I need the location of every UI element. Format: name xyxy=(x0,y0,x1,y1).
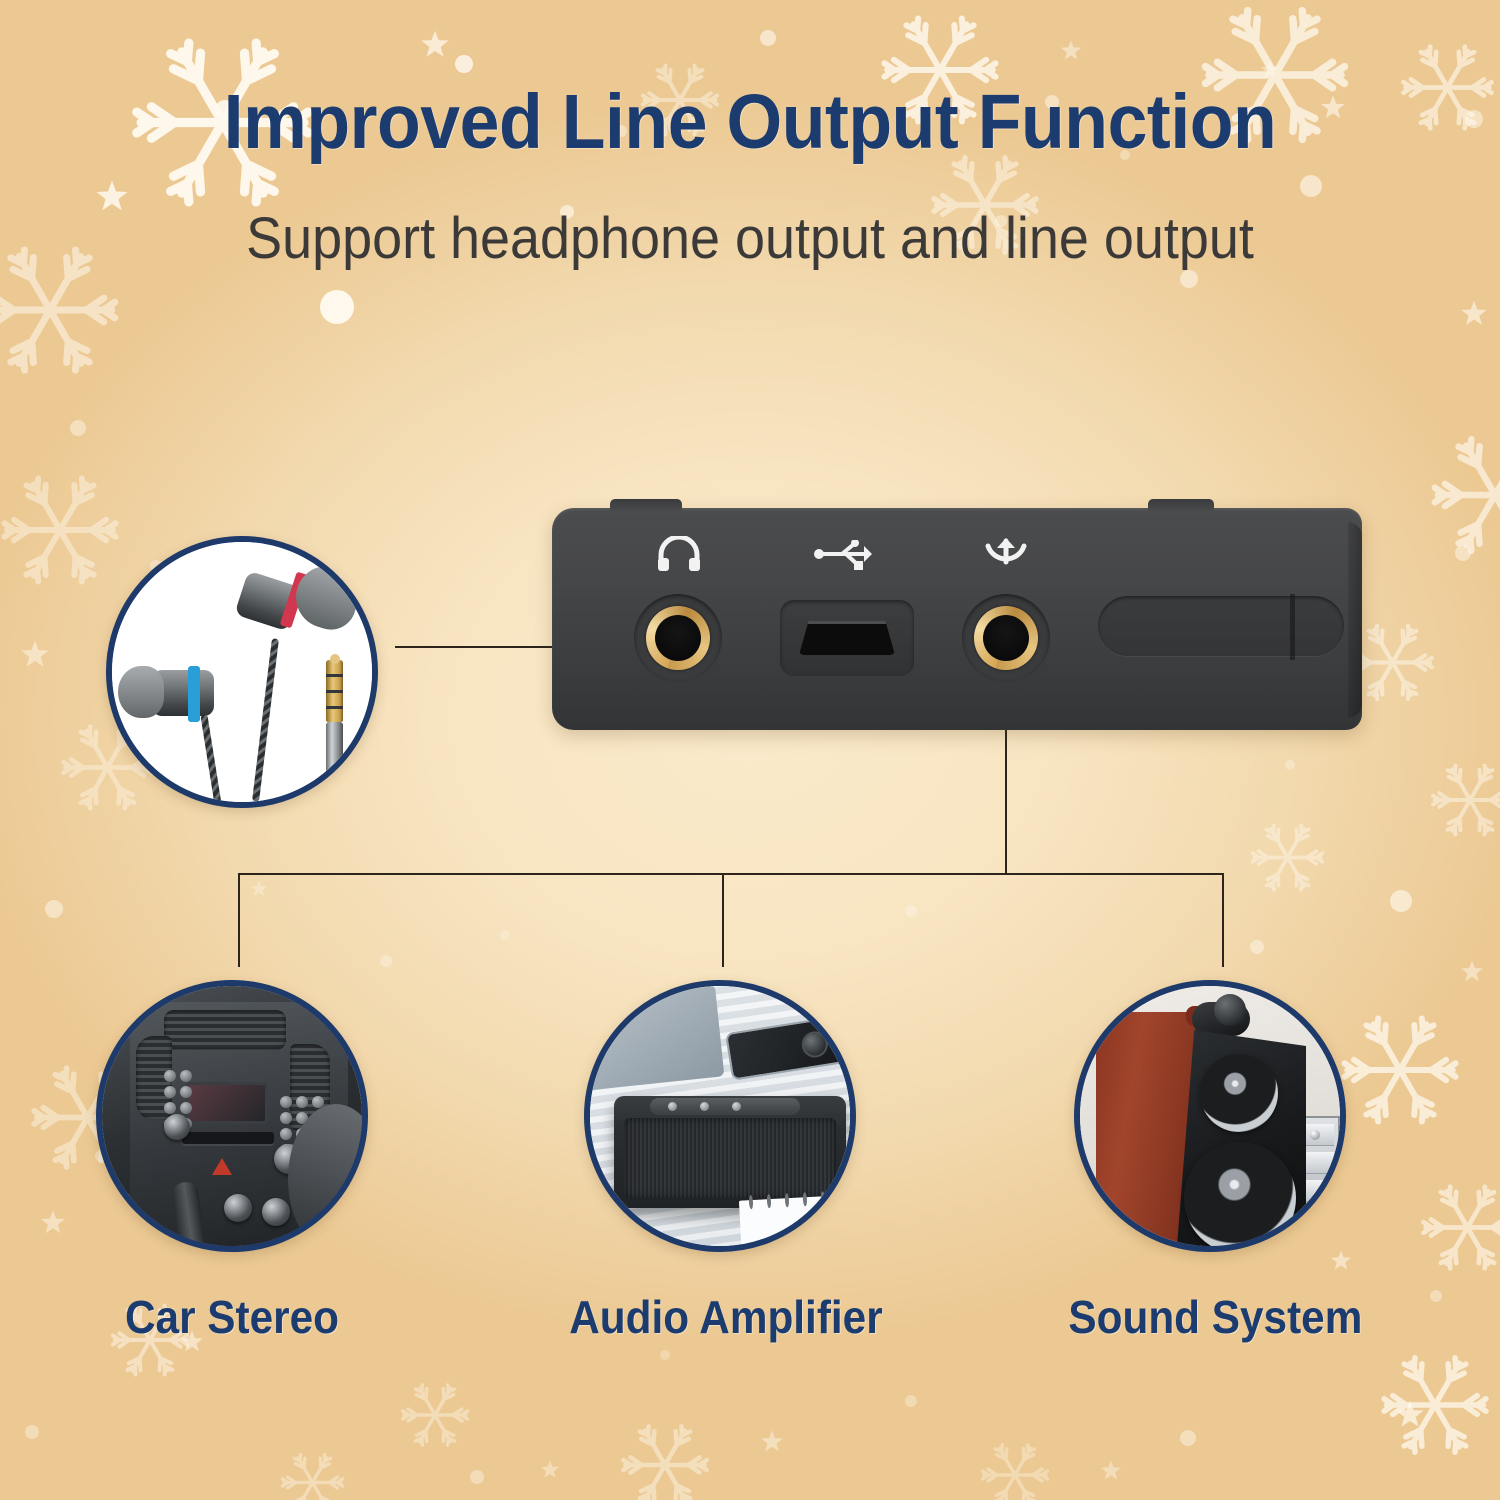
connector-drop-sound xyxy=(1222,873,1224,967)
line-out-jack-port xyxy=(962,594,1050,682)
caption-sound-system: Sound System xyxy=(1068,1290,1353,1344)
sound-system-photo-circle xyxy=(1074,980,1346,1252)
device-right-edge xyxy=(1348,522,1362,718)
page-title: Improved Line Output Function xyxy=(53,78,1448,167)
line-out-jack-gold-ring xyxy=(974,606,1038,670)
line-out-icon xyxy=(984,536,1028,579)
infographic-canvas: Improved Line Output Function Support he… xyxy=(0,0,1500,1500)
headphone-jack-hole xyxy=(655,615,701,661)
caption-audio-amplifier: Audio Amplifier xyxy=(569,1290,873,1344)
usb-icon xyxy=(814,540,878,577)
page-subtitle: Support headphone output and line output xyxy=(53,205,1448,272)
car-stereo-photo xyxy=(102,986,362,1246)
headphone-jack-gold-ring xyxy=(646,606,710,670)
headphone-icon xyxy=(656,536,702,577)
connector-drop-car xyxy=(238,873,240,967)
car-stereo-photo-circle xyxy=(96,980,368,1252)
caption-car-stereo: Car Stereo xyxy=(98,1290,367,1344)
headphone-jack-port xyxy=(634,594,722,682)
connector-lineout-bus xyxy=(238,873,1224,875)
line-out-jack-hole xyxy=(983,615,1029,661)
audio-amplifier-photo xyxy=(590,986,850,1246)
device-top-nub-left xyxy=(610,499,682,511)
connector-drop-amp xyxy=(722,873,724,967)
device-body xyxy=(552,508,1362,730)
device-top-nub-right xyxy=(1148,499,1214,511)
device-belt-clip xyxy=(1098,596,1344,656)
micro-usb-port xyxy=(780,600,914,676)
micro-usb-opening xyxy=(799,621,895,655)
earphone-photo xyxy=(112,542,372,802)
audio-amplifier-photo-circle xyxy=(584,980,856,1252)
earphone-photo-circle xyxy=(106,536,378,808)
device-clip-seam xyxy=(1290,594,1295,660)
sound-system-photo xyxy=(1080,986,1340,1246)
